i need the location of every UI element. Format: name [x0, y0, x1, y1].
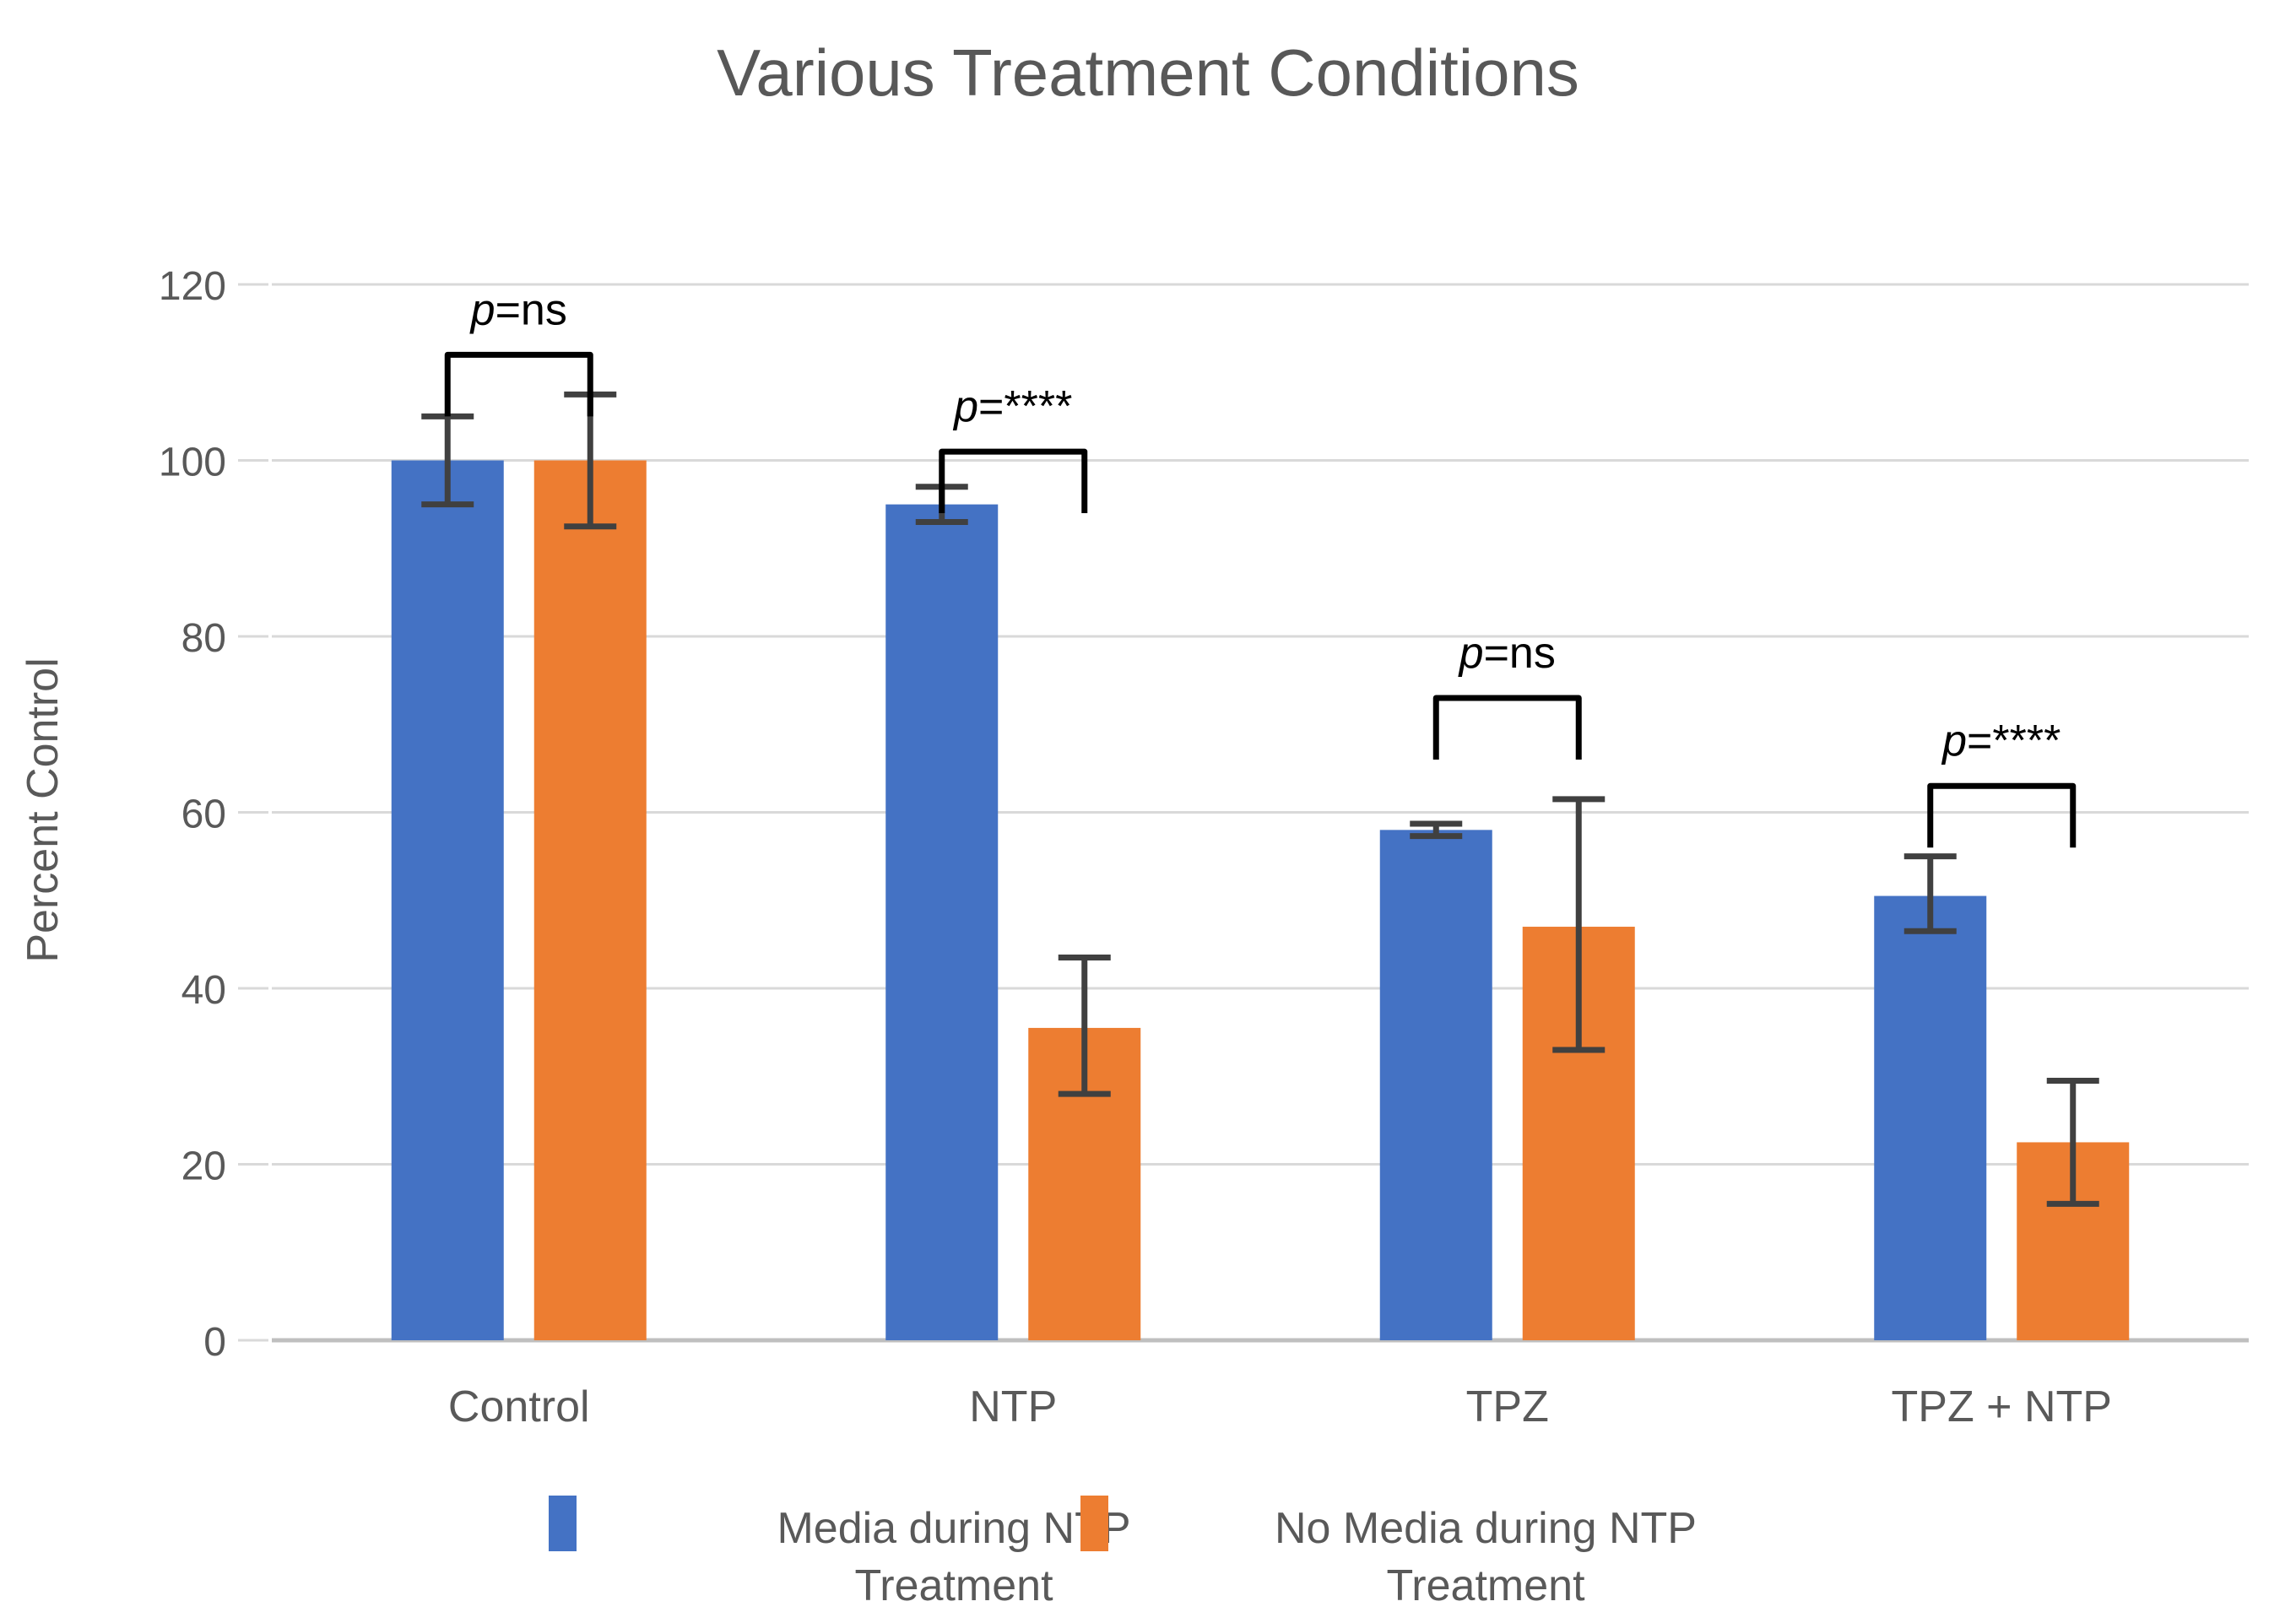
y-tick-label: 60 [181, 793, 226, 837]
y-axis-title: Percent Control [19, 657, 68, 962]
significance-label: p=ns [469, 285, 567, 334]
bar-chart-svg: Various Treatment Conditions 02040608010… [0, 0, 2296, 1623]
p-symbol: p [952, 382, 978, 431]
p-value-text: =ns [1484, 629, 1556, 678]
legend-label-line1: Media during NTP [777, 1504, 1130, 1553]
p-value-text: =**** [1967, 717, 2060, 766]
bar [1380, 830, 1492, 1340]
y-tick-label: 100 [159, 441, 226, 485]
significance-label: p=**** [952, 382, 1072, 431]
bar [534, 461, 647, 1341]
y-tick-label: 0 [203, 1320, 226, 1365]
x-category-label: NTP [969, 1382, 1057, 1431]
chart-container: Various Treatment Conditions 02040608010… [0, 0, 2296, 1623]
p-value-text: =ns [495, 285, 567, 334]
y-tick-label: 20 [181, 1144, 226, 1189]
p-symbol: p [469, 285, 495, 334]
x-category-label: TPZ + NTP [1892, 1382, 2112, 1431]
p-value-text: =**** [978, 382, 1072, 431]
bar [885, 505, 998, 1340]
p-symbol: p [1458, 629, 1484, 678]
y-tick-label: 80 [181, 616, 226, 661]
legend-swatch [1080, 1496, 1108, 1551]
y-tick-label: 120 [159, 264, 226, 309]
x-category-label: TPZ [1466, 1382, 1549, 1431]
bar [1874, 896, 1986, 1340]
p-symbol: p [1941, 717, 1967, 766]
chart-title: Various Treatment Conditions [717, 35, 1579, 110]
y-tick-label: 40 [181, 968, 226, 1013]
legend-label-line2: Treatment [1386, 1561, 1585, 1610]
legend-swatch [549, 1496, 577, 1551]
significance-label: p=**** [1941, 717, 2060, 766]
x-category-label: Control [448, 1382, 590, 1431]
bar [392, 461, 504, 1341]
legend-label-line2: Treatment [854, 1561, 1053, 1610]
significance-label: p=ns [1458, 629, 1556, 678]
legend-label-line1: No Media during NTP [1275, 1504, 1697, 1553]
